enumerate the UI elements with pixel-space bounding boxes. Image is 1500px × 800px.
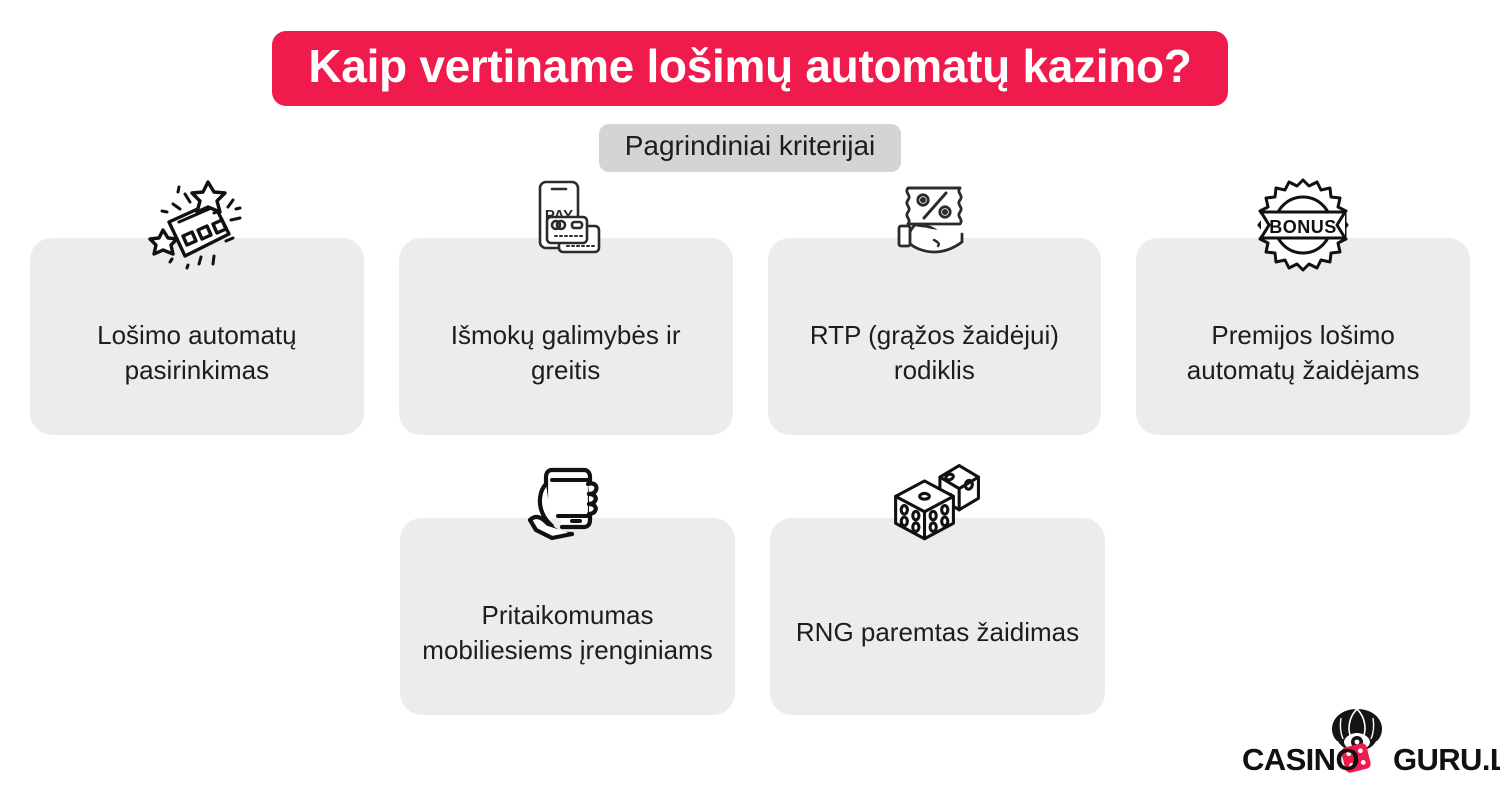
infographic-page: Kaip vertiname lošimų automatų kazino? P… (0, 0, 1500, 800)
subtitle-container: Pagrindiniai kriterijai (0, 124, 1500, 172)
slot-machine-reel-icon (145, 176, 249, 272)
criteria-grid: Lošimo automatų pasirinkimas PAY (30, 238, 1470, 715)
hand-holding-phone-icon (516, 456, 620, 552)
criteria-label: RNG paremtas žaidimas (796, 615, 1079, 649)
criteria-card-rng[interactable]: RNG paremtas žaidimas (770, 518, 1105, 715)
criteria-card-payout-options[interactable]: PAY (399, 238, 733, 435)
logo-text-left: CASINO (1242, 742, 1359, 777)
criteria-label: Išmokų galimybės ir greitis (417, 318, 715, 387)
criteria-card-rtp[interactable]: RTP (grąžos žaidėjui) rodiklis (768, 238, 1102, 435)
criteria-card-slot-selection[interactable]: Lošimo automatų pasirinkimas (30, 238, 364, 435)
logo-wordmark: CASINOGURU.LT (1242, 742, 1472, 778)
criteria-label: Lošimo automatų pasirinkimas (48, 318, 346, 387)
criteria-card-bonuses[interactable]: BONUS Premijos lošimo automatų žaidėjams (1136, 238, 1470, 435)
criteria-label: RTP (grąžos žaidėjui) rodiklis (786, 318, 1084, 387)
page-subtitle: Pagrindiniai kriterijai (599, 124, 902, 172)
logo-text-right: GURU.LT (1393, 742, 1500, 777)
pay-text: PAY (544, 207, 572, 224)
page-title: Kaip vertiname lošimų automatų kazino? (272, 31, 1227, 106)
bonus-text: BONUS (1269, 217, 1337, 237)
mobile-payment-cards-icon: PAY (514, 176, 618, 272)
criteria-label: Pritaikomumas mobiliesiems įrenginiams (418, 598, 717, 667)
criteria-card-mobile-compatibility[interactable]: Pritaikomumas mobiliesiems įrenginiams (400, 518, 735, 715)
criteria-label: Premijos lošimo automatų žaidėjams (1154, 318, 1452, 387)
title-container: Kaip vertiname lošimų automatų kazino? (0, 31, 1500, 106)
two-dice-icon (886, 456, 990, 552)
bonus-badge-icon: BONUS (1251, 176, 1355, 272)
criteria-row-2: Pritaikomumas mobiliesiems įrenginiams (30, 518, 1470, 715)
hand-holding-percent-voucher-icon (882, 176, 986, 272)
casino-guru-logo[interactable]: CASINOGURU.LT (1242, 708, 1472, 782)
criteria-row-1: Lošimo automatų pasirinkimas PAY (30, 238, 1470, 435)
